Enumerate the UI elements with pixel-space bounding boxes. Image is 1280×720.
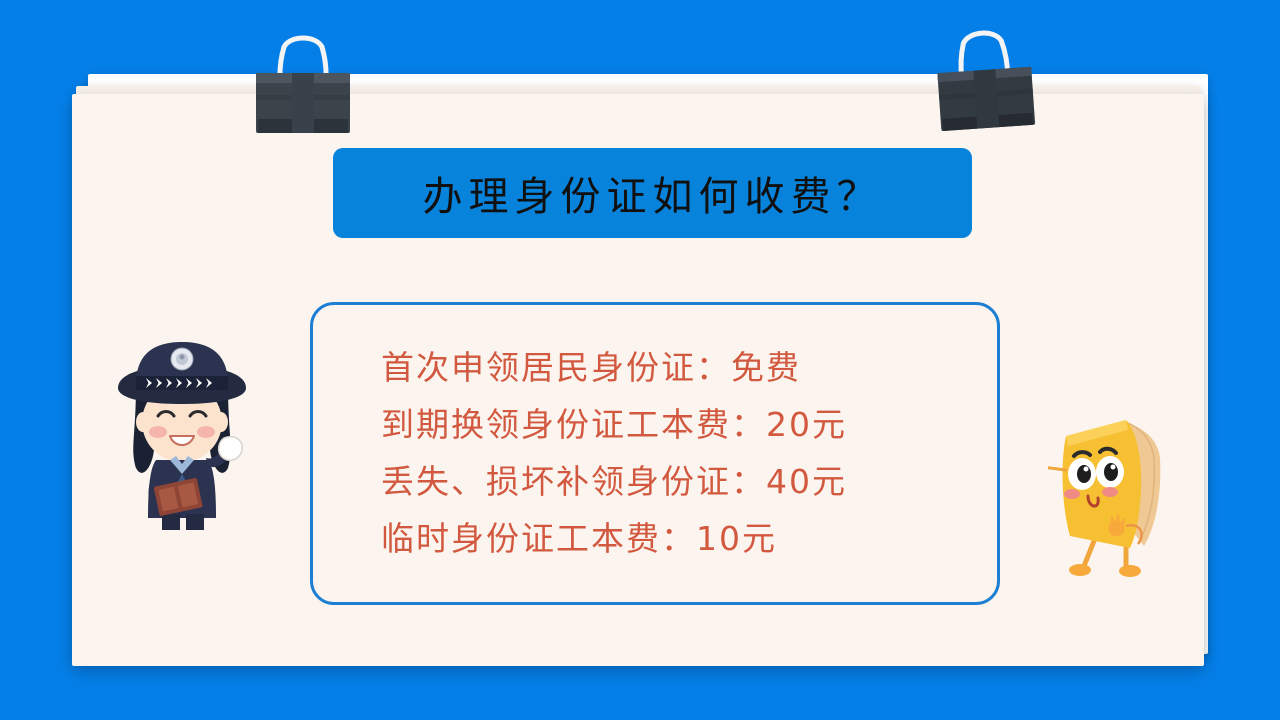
fee-line-2: 到期换领身份证工本费：20元 <box>381 396 847 453</box>
book-mascot <box>1048 408 1188 598</box>
fee-info-box: 首次申领居民身份证：免费 到期换领身份证工本费：20元 丢失、损坏补领身份证：4… <box>310 302 1000 605</box>
police-officer-mascot <box>92 318 272 533</box>
page-title: 办理身份证如何收费？ <box>423 164 883 222</box>
binder-clip-left-icon <box>248 33 358 138</box>
slide-canvas: 办理身份证如何收费？ 首次申领居民身份证：免费 到期换领身份证工本费：20元 丢… <box>0 0 1280 720</box>
fee-line-4: 临时身份证工本费：10元 <box>381 510 847 567</box>
fee-list: 首次申领居民身份证：免费 到期换领身份证工本费：20元 丢失、损坏补领身份证：4… <box>381 339 847 567</box>
title-banner: 办理身份证如何收费？ <box>333 148 972 238</box>
fee-line-1: 首次申领居民身份证：免费 <box>381 339 847 396</box>
binder-clip-right-icon <box>926 24 1043 136</box>
fee-line-3: 丢失、损坏补领身份证：40元 <box>381 453 847 510</box>
